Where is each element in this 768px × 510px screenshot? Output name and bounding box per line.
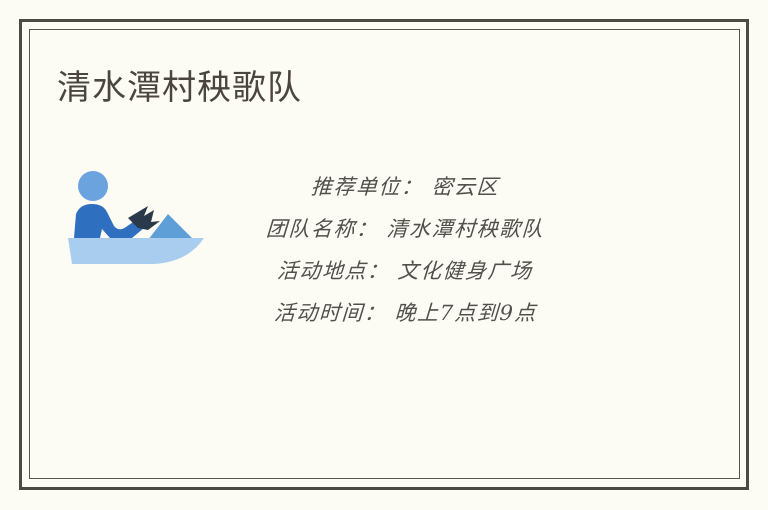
- detail-line-activity-location: 活动地点： 文化健身广场: [276, 250, 534, 292]
- detail-line-recommending-unit: 推荐单位： 密云区: [310, 166, 500, 208]
- illustration-head: [78, 171, 108, 201]
- illustration-sail: [148, 214, 194, 240]
- person-in-boat-illustration: [62, 166, 210, 266]
- detail-list: 推荐单位： 密云区 团队名称： 清水潭村秧歌队 活动地点： 文化健身广场 活动时…: [215, 166, 595, 334]
- page-title: 清水潭村秧歌队: [57, 64, 302, 112]
- detail-line-team-name: 团队名称： 清水潭村秧歌队: [265, 208, 545, 250]
- poster-canvas: 清水潭村秧歌队 推荐单位： 密云区 团队名称： 清水潭村秧歌队 活动地点： 文化…: [0, 0, 768, 510]
- illustration-hull: [68, 238, 204, 264]
- detail-line-activity-time: 活动时间： 晚上7点到9点: [272, 292, 537, 334]
